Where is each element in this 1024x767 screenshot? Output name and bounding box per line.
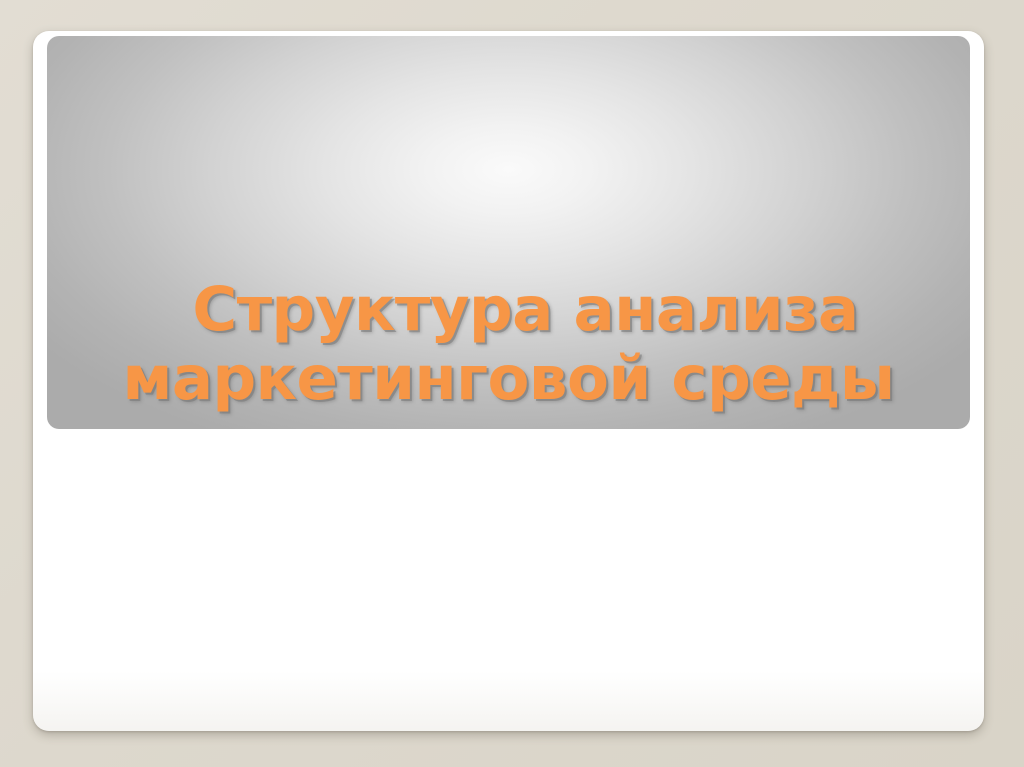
slide-card: Структура анализа маркетинговой среды [33,31,984,731]
slide-title: Структура анализа маркетинговой среды [47,279,970,409]
title-banner: Структура анализа маркетинговой среды [47,36,970,429]
slide-title-line-1: Структура анализа [47,279,970,340]
slide-canvas: Структура анализа маркетинговой среды [0,0,1024,767]
slide-title-line-2: маркетинговой среды [47,348,970,409]
slide-body-content [93,441,923,711]
